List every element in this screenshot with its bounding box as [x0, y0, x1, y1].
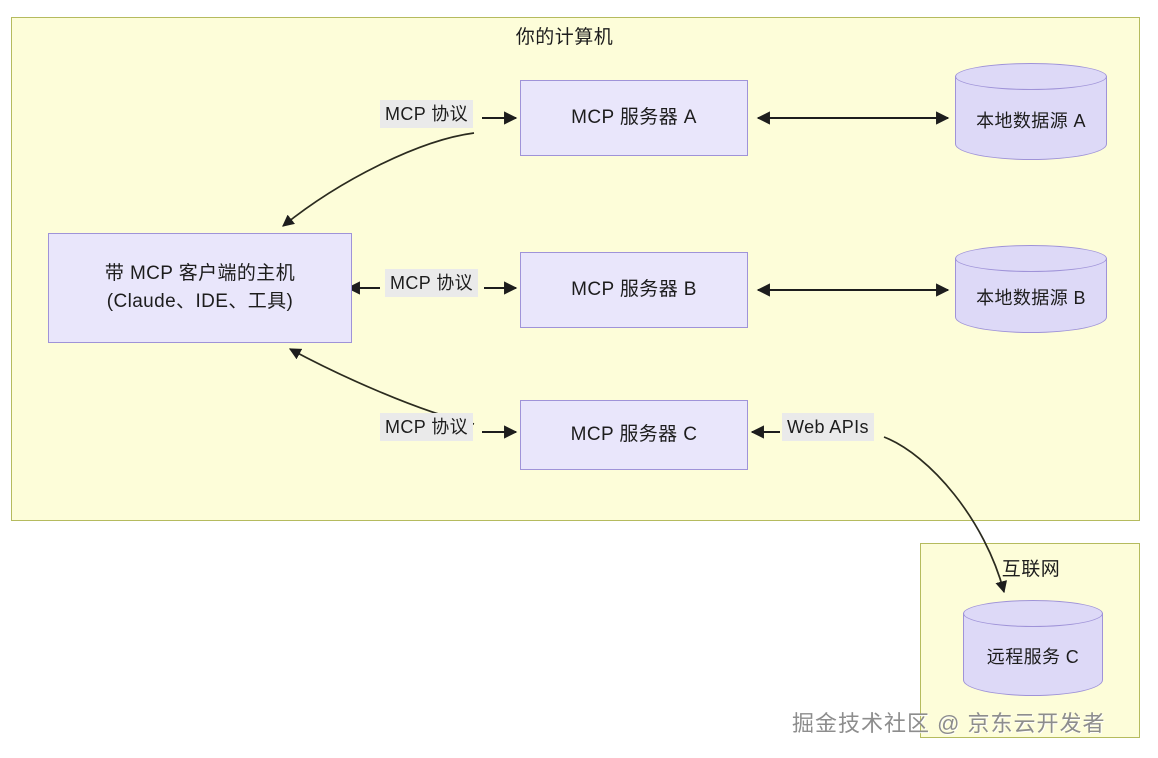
- watermark-text: 掘金技术社区 @ 京东云开发者: [792, 706, 1106, 738]
- datastore-local-a-label: 本地数据源 A: [955, 63, 1107, 160]
- zone-internet-title: 互联网: [921, 554, 1141, 581]
- datastore-local-b[interactable]: 本地数据源 B: [955, 245, 1107, 333]
- node-mcp-server-c-label: MCP 服务器 C: [571, 421, 698, 449]
- datastore-remote-service-c[interactable]: 远程服务 C: [963, 600, 1103, 696]
- node-mcp-server-a-label: MCP 服务器 A: [571, 104, 697, 132]
- node-host-with-mcp-client[interactable]: 带 MCP 客户端的主机 (Claude、IDE、工具): [48, 233, 352, 343]
- node-mcp-server-b-label: MCP 服务器 B: [571, 276, 697, 304]
- node-mcp-server-b[interactable]: MCP 服务器 B: [520, 252, 748, 328]
- edge-label-mcp-protocol-b: MCP 协议: [385, 269, 478, 297]
- edge-label-web-apis: Web APIs: [782, 413, 874, 441]
- datastore-local-a[interactable]: 本地数据源 A: [955, 63, 1107, 160]
- node-mcp-server-a[interactable]: MCP 服务器 A: [520, 80, 748, 156]
- datastore-remote-service-c-label: 远程服务 C: [963, 600, 1103, 696]
- datastore-local-b-label: 本地数据源 B: [955, 245, 1107, 333]
- zone-your-computer-title: 你的计算机: [0, 22, 1129, 49]
- diagram-canvas: 你的计算机 互联网 带 MCP 客户: [0, 0, 1158, 758]
- edge-label-mcp-protocol-a: MCP 协议: [380, 100, 473, 128]
- node-host-label-line2: (Claude、IDE、工具): [107, 291, 294, 312]
- edge-label-mcp-protocol-c: MCP 协议: [380, 413, 473, 441]
- node-mcp-server-c[interactable]: MCP 服务器 C: [520, 400, 748, 470]
- node-host-label-line1: 带 MCP 客户端的主机: [105, 263, 295, 284]
